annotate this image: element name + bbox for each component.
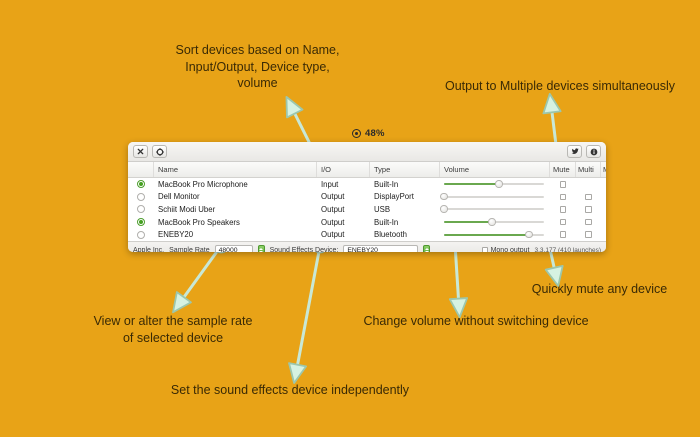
column-header-volume[interactable]: Volume [440, 162, 550, 177]
cell-volume [440, 216, 550, 229]
radio-on-icon[interactable] [137, 218, 145, 226]
cell-type: Bluetooth [370, 228, 440, 241]
cell-io: Output [317, 203, 370, 216]
cell-type: Built-In [370, 216, 440, 229]
column-header-type[interactable]: Type [370, 162, 440, 177]
slider-knob[interactable] [440, 205, 448, 213]
row-select-radio[interactable] [128, 228, 154, 241]
cell-mute[interactable] [550, 203, 576, 216]
cell-mute[interactable] [550, 228, 576, 241]
slider-track [444, 208, 544, 210]
volume-slider[interactable] [444, 192, 544, 202]
menubar-volume-percent: 48% [365, 128, 385, 139]
cell-multi[interactable] [576, 191, 601, 204]
cell-io: Output [317, 216, 370, 229]
slider-fill [444, 183, 499, 185]
twitter-bird-icon [571, 148, 579, 155]
radio-on-icon[interactable] [137, 180, 145, 188]
cell-mute[interactable] [550, 216, 576, 229]
titlebar-right-buttons [563, 142, 601, 161]
mono-output-label: Mono output [491, 247, 530, 252]
cell-volume [440, 228, 550, 241]
cell-multi [576, 178, 601, 191]
column-header-mute[interactable]: Mute [550, 162, 576, 177]
column-header-io[interactable]: I/O [317, 162, 370, 177]
close-button[interactable] [133, 145, 148, 158]
cell-mute-checkbox[interactable] [560, 206, 567, 213]
table-body: MacBook Pro MicrophoneInputBuilt-InDell … [128, 178, 606, 241]
volume-slider[interactable] [444, 204, 544, 214]
menubar-volume-indicator[interactable]: 48% [352, 128, 385, 139]
table-row[interactable]: Schiit Modi UberOutputUSB [128, 203, 606, 216]
row-select-radio[interactable] [128, 191, 154, 204]
cell-multi-checkbox[interactable] [585, 206, 592, 213]
mono-output-checkbox[interactable] [482, 247, 489, 252]
cell-device-name: Dell Monitor [154, 191, 317, 204]
cell-device-name: Schiit Modi Uber [154, 203, 317, 216]
app-window: Name I/O Type Volume Mute Multi Master M… [128, 142, 606, 252]
row-select-radio[interactable] [128, 178, 154, 191]
sample-rate-label: Sample Rate [169, 247, 209, 252]
version-text: 3.3.177 (410 launches) [535, 247, 602, 252]
column-header-multi[interactable]: Multi [576, 162, 601, 177]
radio-off-icon[interactable] [137, 205, 145, 213]
gear-icon [156, 148, 164, 156]
cell-volume [440, 191, 550, 204]
sound-effects-label: Sound Effects Device: [270, 247, 339, 252]
table-row[interactable]: MacBook Pro MicrophoneInputBuilt-In [128, 178, 606, 191]
cell-multi[interactable] [576, 203, 601, 216]
device-table: Name I/O Type Volume Mute Multi Master M… [128, 162, 606, 241]
sample-rate-stepper[interactable] [258, 245, 265, 252]
cell-type: USB [370, 203, 440, 216]
mono-output-toggle[interactable]: Mono output [482, 247, 530, 252]
slider-knob[interactable] [525, 231, 533, 239]
cell-volume [440, 178, 550, 191]
close-x-icon [137, 148, 144, 155]
cell-multi-checkbox[interactable] [585, 219, 592, 226]
table-row[interactable]: MacBook Pro SpeakersOutputBuilt-In [128, 216, 606, 229]
window-titlebar [128, 142, 606, 162]
twitter-button[interactable] [567, 145, 582, 158]
volume-slider[interactable] [444, 230, 544, 240]
cell-mute[interactable] [550, 191, 576, 204]
cell-master[interactable] [601, 228, 606, 241]
cell-io: Output [317, 228, 370, 241]
vendor-label: Apple Inc. [133, 247, 164, 252]
column-header-select[interactable] [128, 162, 154, 177]
sound-effects-stepper[interactable] [423, 245, 430, 252]
cell-device-name: MacBook Pro Microphone [154, 178, 317, 191]
slider-knob[interactable] [488, 218, 496, 226]
row-select-radio[interactable] [128, 203, 154, 216]
radio-off-icon[interactable] [137, 231, 145, 239]
cell-multi[interactable] [576, 228, 601, 241]
slider-knob[interactable] [440, 193, 448, 201]
cell-mute[interactable] [550, 178, 576, 191]
cell-multi-checkbox[interactable] [585, 231, 592, 238]
cell-master[interactable] [601, 191, 606, 204]
volume-slider[interactable] [444, 179, 544, 189]
info-button[interactable] [586, 145, 601, 158]
sound-effects-device-select[interactable]: ENEBY20 [343, 245, 418, 252]
cell-master [601, 178, 606, 191]
cell-mute-checkbox[interactable] [560, 194, 567, 201]
column-header-name[interactable]: Name [154, 162, 317, 177]
cell-volume [440, 203, 550, 216]
cell-mute-checkbox[interactable] [560, 219, 567, 226]
cell-master[interactable] [601, 216, 606, 229]
cell-master[interactable] [601, 203, 606, 216]
cell-type: Built-In [370, 178, 440, 191]
window-bottom-bar: Apple Inc. Sample Rate 48000 Sound Effec… [128, 241, 606, 252]
table-row[interactable]: Dell MonitorOutputDisplayPort [128, 191, 606, 204]
column-header-master[interactable]: Master [601, 162, 606, 177]
slider-fill [444, 221, 492, 223]
cell-io: Input [317, 178, 370, 191]
cell-type: DisplayPort [370, 191, 440, 204]
volume-slider[interactable] [444, 217, 544, 227]
row-select-radio[interactable] [128, 216, 154, 229]
slider-fill [444, 234, 529, 236]
cell-multi-checkbox[interactable] [585, 194, 592, 201]
cell-multi[interactable] [576, 216, 601, 229]
cell-mute-checkbox[interactable] [560, 181, 567, 188]
cell-device-name: ENEBY20 [154, 228, 317, 241]
sample-rate-input[interactable]: 48000 [215, 245, 253, 252]
info-circle-icon [590, 148, 598, 156]
settings-button[interactable] [152, 145, 167, 158]
cell-device-name: MacBook Pro Speakers [154, 216, 317, 229]
slider-knob[interactable] [495, 180, 503, 188]
cell-mute-checkbox[interactable] [560, 231, 567, 238]
table-header-row: Name I/O Type Volume Mute Multi Master [128, 162, 606, 178]
slider-track [444, 196, 544, 198]
radio-off-icon[interactable] [137, 193, 145, 201]
table-row[interactable]: ENEBY20OutputBluetooth [128, 228, 606, 241]
cell-io: Output [317, 191, 370, 204]
volume-radial-icon [352, 129, 361, 138]
